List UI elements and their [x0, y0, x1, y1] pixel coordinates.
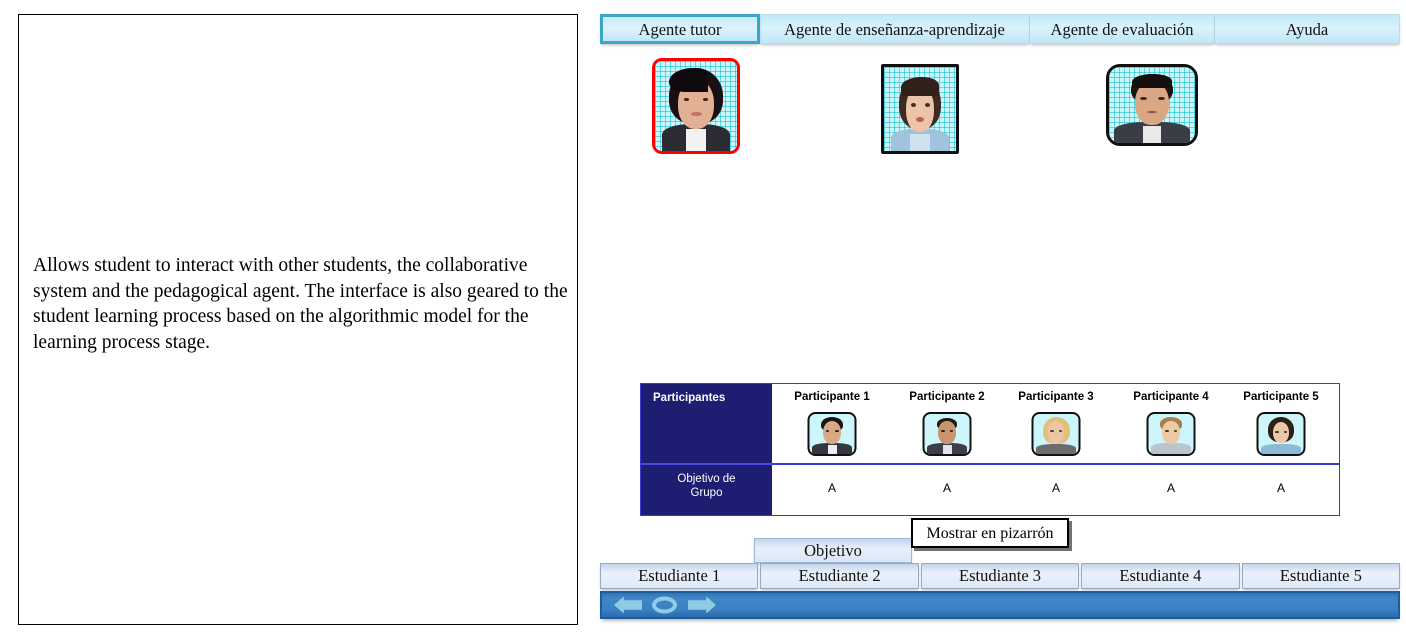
participant-column-2[interactable]: Participante 2 A	[887, 384, 1007, 515]
arrow-right-icon[interactable]	[688, 597, 716, 614]
oval-icon[interactable]	[652, 597, 677, 614]
participant-avatar[interactable]	[1147, 412, 1196, 456]
tooltip-text: Mostrar en pizarrón	[926, 525, 1053, 542]
avatar-face	[1034, 414, 1079, 454]
tab-estudiante-5[interactable]: Estudiante 5	[1242, 563, 1400, 589]
agent-avatar-teaching[interactable]	[881, 64, 959, 154]
application-area: Agente tutor Agente de enseñanza-aprendi…	[578, 0, 1406, 636]
participant-column-1[interactable]: Participante 1 A	[772, 384, 892, 515]
tab-label: Agente tutor	[639, 20, 722, 39]
participant-objective-value: A	[887, 481, 1007, 495]
tab-agente-tutor[interactable]: Agente tutor	[600, 14, 760, 44]
tab-ayuda[interactable]: Ayuda	[1215, 14, 1400, 44]
tab-label: Estudiante 4	[1119, 566, 1201, 585]
participant-avatar[interactable]	[1257, 412, 1306, 456]
participant-label: Participante 1	[772, 391, 892, 403]
participant-objective-value: A	[772, 481, 892, 495]
avatar-face	[884, 67, 956, 151]
tab-estudiante-1[interactable]: Estudiante 1	[600, 563, 758, 589]
tab-agente-evaluacion[interactable]: Agente de evaluación	[1030, 14, 1215, 44]
row-header-objetivo-line1: Objetivo de	[677, 473, 735, 485]
participant-label: Participante 5	[1221, 391, 1341, 403]
agent-tab-bar: Agente tutor Agente de enseñanza-aprendi…	[600, 14, 1400, 46]
student-tab-bar: Estudiante 1 Estudiante 2 Estudiante 3 E…	[600, 563, 1400, 589]
tab-estudiante-4[interactable]: Estudiante 4	[1081, 563, 1239, 589]
participants-table-side-header: Participantes Objetivo de Grupo	[641, 384, 772, 515]
tab-label: Estudiante 2	[799, 566, 881, 585]
avatar-face	[1109, 67, 1195, 143]
tooltip-mostrar-en-pizarron: Mostrar en pizarrón	[911, 518, 1069, 548]
tab-label: Ayuda	[1286, 20, 1328, 39]
participant-column-4[interactable]: Participante 4 A	[1111, 384, 1231, 515]
side-header-divider	[641, 463, 772, 465]
participant-avatar[interactable]	[808, 412, 857, 456]
row-header-participantes: Participantes	[641, 392, 772, 404]
tab-estudiante-2[interactable]: Estudiante 2	[760, 563, 918, 589]
participant-column-5[interactable]: Participante 5 A	[1221, 384, 1341, 515]
participant-label: Participante 4	[1111, 391, 1231, 403]
arrow-left-icon[interactable]	[614, 597, 642, 614]
participant-avatar[interactable]	[1032, 412, 1081, 456]
description-panel: Allows student to interact with other st…	[18, 14, 578, 625]
tab-objetivo[interactable]: Objetivo	[754, 538, 912, 563]
avatar-face	[925, 414, 970, 454]
tab-estudiante-3[interactable]: Estudiante 3	[921, 563, 1079, 589]
row-header-objetivo-grupo: Objetivo de Grupo	[641, 472, 772, 500]
avatar-face	[655, 61, 737, 151]
participant-avatar[interactable]	[923, 412, 972, 456]
participants-table: Participantes Objetivo de Grupo Particip…	[640, 383, 1340, 516]
participant-objective-value: A	[996, 481, 1116, 495]
avatar-face	[1259, 414, 1304, 454]
avatar-face	[810, 414, 855, 454]
tab-label: Agente de evaluación	[1051, 20, 1194, 39]
agent-avatar-evaluation[interactable]	[1106, 64, 1198, 146]
agent-avatar-row	[578, 56, 1406, 166]
participant-objective-value: A	[1221, 481, 1341, 495]
participant-label: Participante 3	[996, 391, 1116, 403]
description-text: Allows student to interact with other st…	[33, 253, 568, 355]
tab-objetivo-label: Objetivo	[804, 541, 862, 560]
participant-column-3[interactable]: Participante 3 A	[996, 384, 1116, 515]
tab-label: Estudiante 5	[1280, 566, 1362, 585]
tab-label: Estudiante 1	[638, 566, 720, 585]
participant-objective-value: A	[1111, 481, 1231, 495]
tab-label: Estudiante 3	[959, 566, 1041, 585]
tab-label: Agente de enseñanza-aprendizaje	[784, 20, 1005, 39]
tab-agente-ensenanza-aprendizaje[interactable]: Agente de enseñanza-aprendizaje	[760, 14, 1030, 44]
navigation-toolbar	[600, 591, 1400, 619]
participant-label: Participante 2	[887, 391, 1007, 403]
agent-avatar-tutor[interactable]	[652, 58, 740, 154]
row-header-objetivo-line2: Grupo	[691, 487, 723, 499]
avatar-face	[1149, 414, 1194, 454]
